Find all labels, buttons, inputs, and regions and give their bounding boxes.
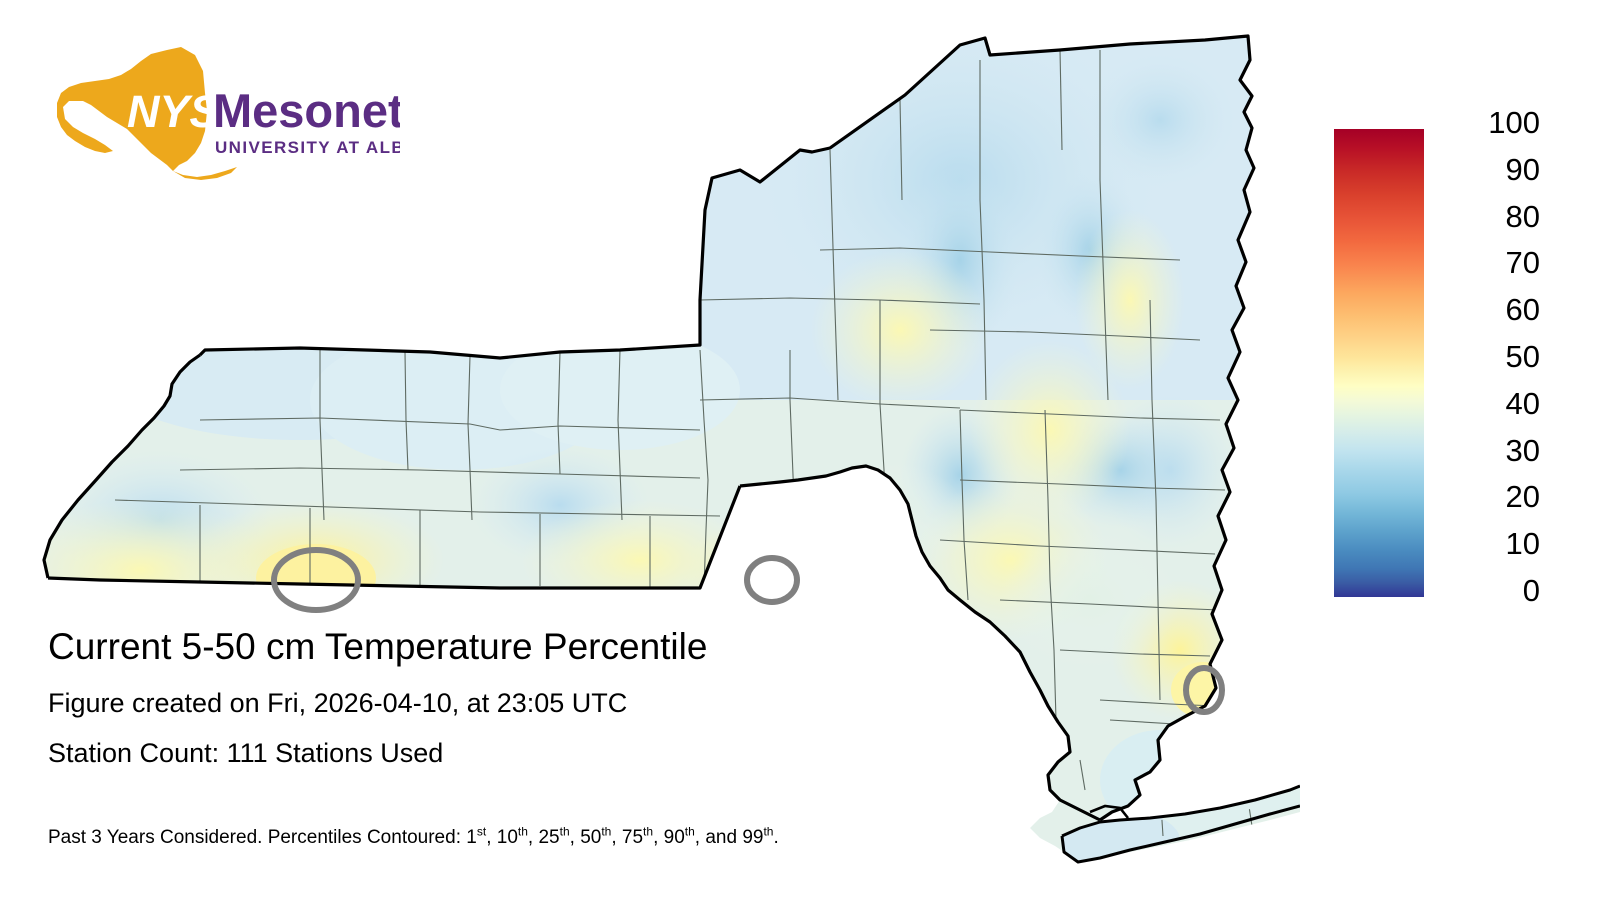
footer-ordinal-separator: , [611, 827, 622, 848]
colorbar-gradient [1334, 129, 1424, 597]
footer-ordinal-number: 10 [497, 827, 518, 848]
colorbar-tick-90: 90 [1430, 154, 1540, 185]
footer-ordinal-suffix: th [560, 825, 570, 839]
page-title: Current 5-50 cm Temperature Percentile [48, 625, 1098, 669]
contour-ring-southern-tier-central [747, 558, 797, 602]
colorbar-tick-50: 50 [1430, 341, 1540, 372]
figure-created-line: Figure created on Fri, 2026-04-10, at 23… [48, 687, 1098, 719]
footer-ordinal-number: 99 [742, 827, 763, 848]
footer-ordinal-suffix: th [518, 825, 528, 839]
logo-mesonet-text: Mesonet [213, 84, 400, 137]
colorbar-tick-70: 70 [1430, 247, 1540, 278]
footer-ordinal-list: 1st, 10th, 25th, 50th, 75th, 90th, and 9… [466, 827, 779, 848]
footer-ordinal-separator: , [486, 827, 497, 848]
colorbar: 100 90 80 70 60 50 40 30 20 10 0 [1334, 129, 1594, 599]
long-island-silhouette-icon [173, 167, 237, 180]
colorbar-tick-10: 10 [1430, 528, 1540, 559]
footer-ordinal-suffix: th [763, 825, 773, 839]
footer-ordinal-number: 75 [622, 827, 643, 848]
colorbar-tick-80: 80 [1430, 201, 1540, 232]
footer-ordinal-separator: , [528, 827, 539, 848]
title-block: Current 5-50 cm Temperature Percentile F… [48, 625, 1098, 769]
colorbar-tick-0: 0 [1430, 575, 1540, 606]
colorbar-tick-30: 30 [1430, 435, 1540, 466]
footer-ordinal-suffix: th [601, 825, 611, 839]
footer-note: Past 3 Years Considered. Percentiles Con… [48, 826, 779, 850]
footer-ordinal-number: 50 [580, 827, 601, 848]
nys-mesonet-logo: NYS Mesonet UNIVERSITY AT ALBANY [55, 45, 400, 180]
colorbar-tick-labels: 100 90 80 70 60 50 40 30 20 10 0 [1430, 107, 1550, 619]
footer-ordinal-number: 25 [538, 827, 559, 848]
footer-ordinal-number: 1 [466, 827, 477, 848]
footer-prefix: Past 3 Years Considered. Percentiles Con… [48, 827, 466, 848]
colorbar-tick-40: 40 [1430, 388, 1540, 419]
footer-ordinal-suffix: st [477, 825, 486, 839]
footer-ordinal-suffix: th [685, 825, 695, 839]
colorbar-tick-60: 60 [1430, 294, 1540, 325]
footer-ordinal-suffix: th [643, 825, 653, 839]
station-count-line: Station Count: 111 Stations Used [48, 737, 1098, 769]
footer-ordinal-separator: , and [695, 827, 743, 848]
logo-tagline-text: UNIVERSITY AT ALBANY [215, 138, 400, 157]
footer-ordinal-separator: , [570, 827, 581, 848]
footer-ordinal-separator: , [653, 827, 664, 848]
logo-nys-text: NYS [127, 86, 220, 137]
footer-ordinal-separator: . [773, 827, 778, 848]
colorbar-tick-20: 20 [1430, 481, 1540, 512]
colorbar-tick-100: 100 [1430, 107, 1540, 138]
footer-ordinal-number: 90 [664, 827, 685, 848]
